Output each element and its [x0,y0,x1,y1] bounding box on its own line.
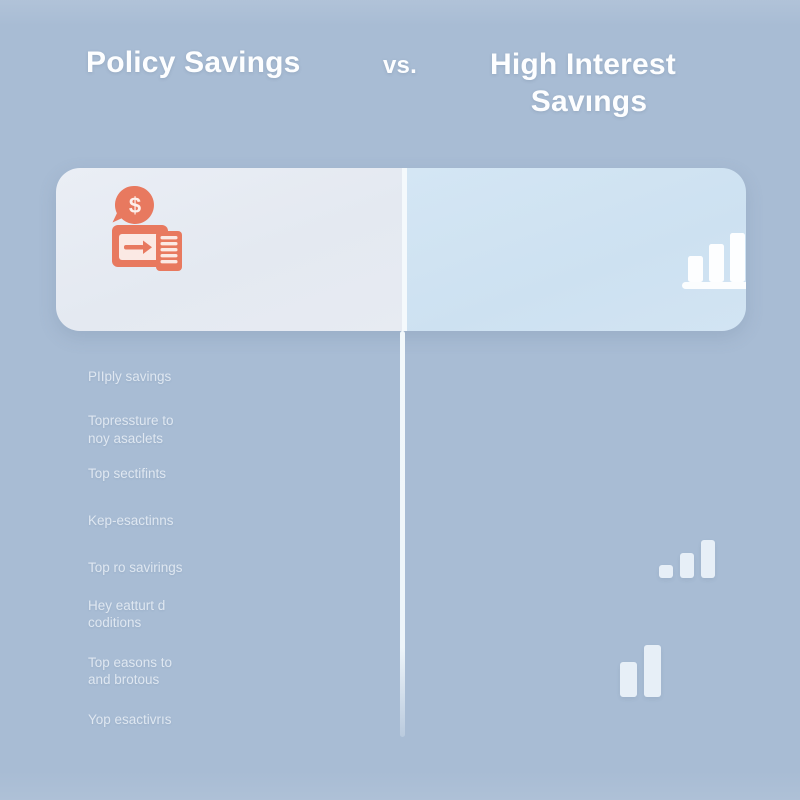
bar [680,553,694,578]
title-versus-label: vs. [383,52,417,80]
comparison-card: $ [56,168,746,331]
list-item[interactable]: Top ro savirings [88,559,358,576]
card-pane-high-interest-savings[interactable] [402,168,746,331]
feature-list: PIIply savings Topressture to noy asacle… [88,368,358,728]
title-right-line1: High Interest [490,48,676,81]
bar [701,540,715,578]
list-item[interactable]: Yop esactivrıs [88,711,358,728]
comparison-infographic: Policy Savings vs. High Interest Savıngs… [0,0,800,800]
lower-bar-group-lower [620,645,661,697]
bar [659,565,673,578]
list-item[interactable]: PIIply savings [88,368,358,385]
svg-text:$: $ [129,193,141,218]
bar [620,662,637,697]
title-right-label: High Interest Savıngs [490,46,720,120]
list-item[interactable]: Kep-esactinns [88,512,358,529]
lower-bar-group-upper [659,540,715,578]
list-item[interactable]: Topressture to noy asaclets [88,412,358,447]
list-item[interactable]: Top easons to and brotous [88,654,358,689]
bar-chart-icon [676,208,746,292]
list-item[interactable]: Top sectifints [88,465,358,482]
card-pane-policy-savings[interactable]: $ [56,168,402,331]
title-right-line2: Savıngs [490,83,688,120]
money-transfer-icon: $ [102,182,198,278]
page-title: Policy Savings vs. High Interest Savıngs [0,34,800,144]
list-item[interactable]: Hey eatturt d coditions [88,597,358,632]
vertical-divider-line [400,331,405,737]
bar [644,645,661,697]
title-left-label: Policy Savings [86,46,301,80]
card-divider [402,168,407,331]
